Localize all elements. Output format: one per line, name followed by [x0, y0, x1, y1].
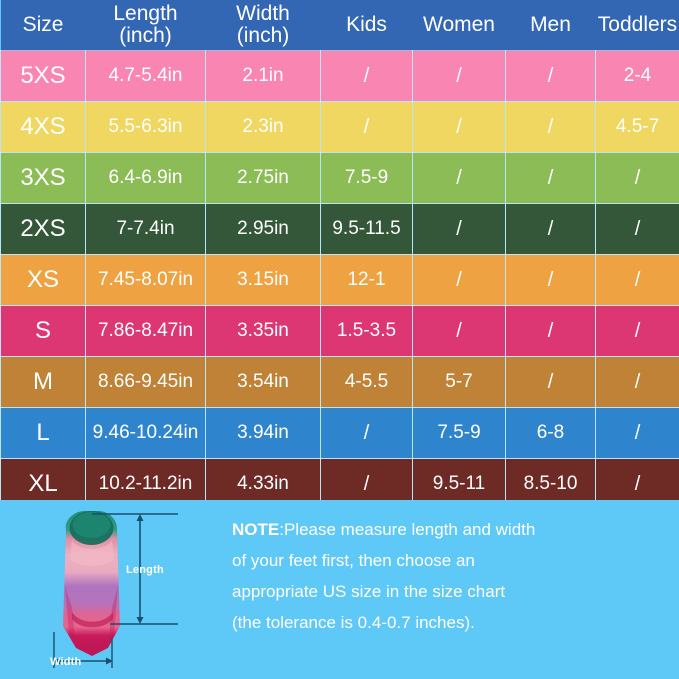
- cell-kids: 1.5-3.5: [321, 306, 413, 357]
- cell-men: 6-8: [506, 408, 596, 459]
- table-row: 5XS 4.7-5.4in 2.1in / / / 2-4: [1, 51, 679, 102]
- table-row: L 9.46-10.24in 3.94in / 7.5-9 6-8 /: [1, 408, 679, 459]
- cell-kids: 12-1: [321, 255, 413, 306]
- length-arrow-head-top: [137, 514, 144, 521]
- size-chart-table: Size Length (inch) Width (inch) Kids Wom…: [0, 0, 679, 510]
- cell-length: 5.5-6.3in: [86, 102, 206, 153]
- cell-toddlers: /: [596, 255, 679, 306]
- width-dimension-label: Width: [50, 656, 81, 668]
- size-chart-page: Size Length (inch) Width (inch) Kids Wom…: [0, 0, 679, 679]
- cell-width: 3.35in: [206, 306, 321, 357]
- cell-width: 2.1in: [206, 51, 321, 102]
- length-dimension-label: Length: [126, 564, 164, 576]
- column-header-men: Men: [506, 0, 596, 51]
- header-label-men: Men: [530, 13, 571, 36]
- column-header-women: Women: [413, 0, 506, 51]
- column-header-length: Length (inch): [86, 0, 206, 51]
- header-label-women: Women: [423, 13, 495, 36]
- cell-kids: 4-5.5: [321, 357, 413, 408]
- table-row: M 8.66-9.45in 3.54in 4-5.5 5-7 / /: [1, 357, 679, 408]
- cell-width: 3.94in: [206, 408, 321, 459]
- cell-size: 5XS: [1, 51, 86, 102]
- header-label-length: Length: [113, 2, 177, 25]
- table-row: 2XS 7-7.4in 2.95in 9.5-11.5 / / /: [1, 204, 679, 255]
- cell-women: /: [413, 153, 506, 204]
- cell-toddlers: /: [596, 204, 679, 255]
- cell-size: M: [1, 357, 86, 408]
- cell-length: 8.66-9.45in: [86, 357, 206, 408]
- cell-kids: 7.5-9: [321, 153, 413, 204]
- cell-women: /: [413, 204, 506, 255]
- cell-width: 2.95in: [206, 204, 321, 255]
- cell-men: /: [506, 153, 596, 204]
- note-line-3: appropriate US size in the size chart: [232, 576, 662, 607]
- cell-men: /: [506, 357, 596, 408]
- table-row: 3XS 6.4-6.9in 2.75in 7.5-9 / / /: [1, 153, 679, 204]
- table-row: XS 7.45-8.07in 3.15in 12-1 / / /: [1, 255, 679, 306]
- length-arrow-head-bottom: [137, 617, 144, 624]
- cell-length: 7.86-8.47in: [86, 306, 206, 357]
- cell-length: 9.46-10.24in: [86, 408, 206, 459]
- cell-women: 7.5-9: [413, 408, 506, 459]
- header-sub-length: (inch): [88, 25, 204, 47]
- header-sub-width: (inch): [208, 25, 319, 47]
- note-label: NOTE: [232, 520, 279, 539]
- swim-fin-diagram: Length Width: [28, 508, 218, 676]
- cell-size: 3XS: [1, 153, 86, 204]
- fin-foot-opening-inner: [73, 512, 111, 538]
- cell-length: 6.4-6.9in: [86, 153, 206, 204]
- cell-toddlers: 2-4: [596, 51, 679, 102]
- cell-width: 2.75in: [206, 153, 321, 204]
- cell-width: 3.54in: [206, 357, 321, 408]
- header-label-width: Width: [236, 2, 290, 25]
- note-line-1-text: :Please measure length and width: [279, 520, 535, 539]
- cell-kids: /: [321, 408, 413, 459]
- column-header-size: Size: [1, 0, 86, 51]
- cell-men: /: [506, 255, 596, 306]
- note-panel: Length Width NOTE:Please measure length …: [0, 500, 679, 679]
- table-row: 4XS 5.5-6.3in 2.3in / / / 4.5-7: [1, 102, 679, 153]
- cell-toddlers: /: [596, 408, 679, 459]
- cell-men: /: [506, 306, 596, 357]
- cell-kids: /: [321, 51, 413, 102]
- header-row: Size Length (inch) Width (inch) Kids Wom…: [1, 0, 679, 51]
- cell-toddlers: /: [596, 357, 679, 408]
- table-row: S 7.86-8.47in 3.35in 1.5-3.5 / / /: [1, 306, 679, 357]
- column-header-kids: Kids: [321, 0, 413, 51]
- cell-men: /: [506, 51, 596, 102]
- note-line-4: (the tolerance is 0.4-0.7 inches).: [232, 607, 662, 638]
- cell-size: 2XS: [1, 204, 86, 255]
- note-line-1: NOTE:Please measure length and width: [232, 514, 662, 545]
- cell-toddlers: /: [596, 306, 679, 357]
- cell-women: /: [413, 255, 506, 306]
- cell-size: XS: [1, 255, 86, 306]
- header-label-kids: Kids: [346, 13, 387, 36]
- cell-width: 2.3in: [206, 102, 321, 153]
- cell-men: /: [506, 102, 596, 153]
- note-line-2: of your feet first, then choose an: [232, 545, 662, 576]
- cell-women: /: [413, 51, 506, 102]
- header-label-toddlers: Toddlers: [598, 13, 677, 36]
- cell-length: 4.7-5.4in: [86, 51, 206, 102]
- column-header-toddlers: Toddlers: [596, 0, 679, 51]
- cell-toddlers: 4.5-7: [596, 102, 679, 153]
- table-body: 5XS 4.7-5.4in 2.1in / / / 2-4 4XS 5.5-6.…: [1, 51, 679, 510]
- cell-size: 4XS: [1, 102, 86, 153]
- cell-women: /: [413, 102, 506, 153]
- cell-length: 7.45-8.07in: [86, 255, 206, 306]
- cell-length: 7-7.4in: [86, 204, 206, 255]
- note-text-block: NOTE:Please measure length and width of …: [232, 514, 662, 638]
- fin-illustration-svg: [28, 508, 218, 676]
- cell-men: /: [506, 204, 596, 255]
- cell-kids: /: [321, 102, 413, 153]
- cell-size: S: [1, 306, 86, 357]
- column-header-width: Width (inch): [206, 0, 321, 51]
- cell-toddlers: /: [596, 153, 679, 204]
- cell-women: /: [413, 306, 506, 357]
- cell-size: L: [1, 408, 86, 459]
- cell-width: 3.15in: [206, 255, 321, 306]
- header-label-size: Size: [23, 13, 64, 36]
- cell-kids: 9.5-11.5: [321, 204, 413, 255]
- table-header: Size Length (inch) Width (inch) Kids Wom…: [1, 0, 679, 51]
- cell-women: 5-7: [413, 357, 506, 408]
